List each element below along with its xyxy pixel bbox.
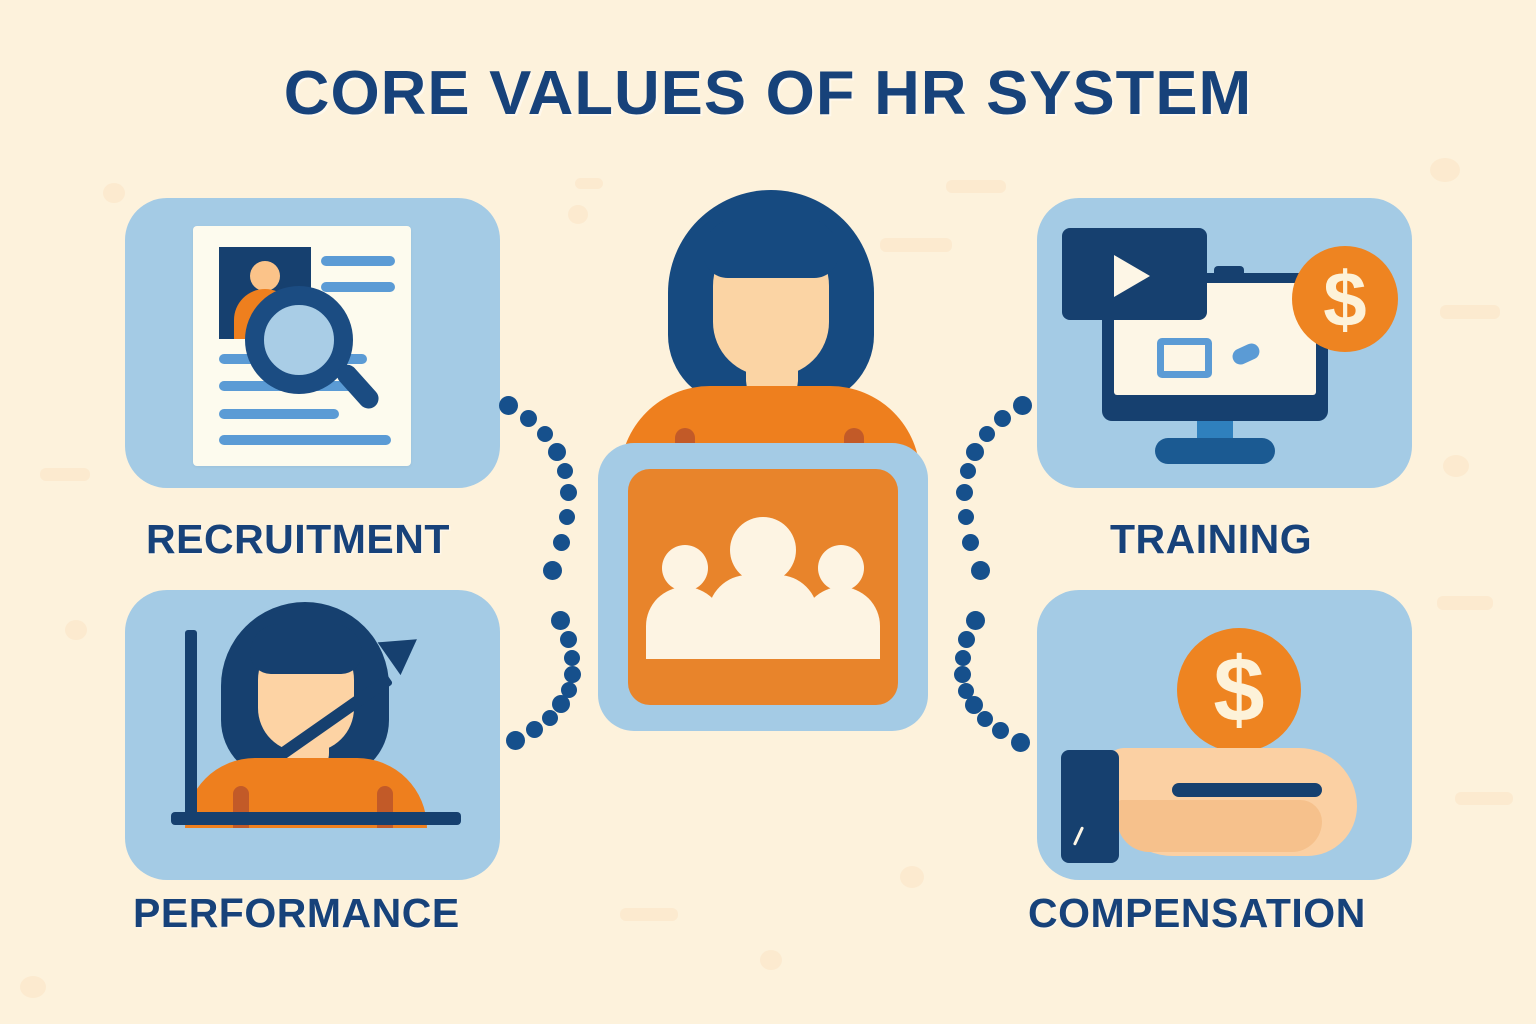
finger-crease bbox=[1172, 783, 1322, 797]
person-growth-chart-icon bbox=[125, 590, 500, 880]
connector-dot bbox=[966, 611, 985, 630]
deco-dash bbox=[1455, 792, 1513, 805]
connector-dot bbox=[552, 695, 570, 713]
group-figure-center-body bbox=[708, 575, 818, 659]
connector-dot bbox=[499, 396, 518, 415]
connector-dot bbox=[506, 731, 525, 750]
page-title: CORE VALUES OF HR SYSTEM bbox=[0, 58, 1536, 129]
connector-dot bbox=[977, 711, 993, 727]
deco-dot bbox=[20, 976, 46, 998]
monitor-video-coin-icon: $ bbox=[1037, 198, 1412, 488]
deco-dot bbox=[1443, 455, 1469, 477]
connector-dot bbox=[548, 443, 566, 461]
card-recruitment[interactable] bbox=[125, 198, 500, 488]
card-label-performance: PERFORMANCE bbox=[133, 890, 460, 937]
connector-dot bbox=[1013, 396, 1032, 415]
screen-ui-rectangle bbox=[1157, 338, 1212, 378]
connector-dot bbox=[955, 650, 971, 666]
hand-holding-coin-icon: $ bbox=[1037, 590, 1412, 880]
connector-dot bbox=[551, 611, 570, 630]
chart-axis-horizontal bbox=[171, 812, 461, 825]
deco-dot bbox=[900, 866, 924, 888]
connector-dot bbox=[979, 426, 995, 442]
deco-dot bbox=[568, 205, 588, 224]
deco-dash bbox=[1440, 305, 1500, 319]
card-label-training: TRAINING bbox=[1110, 516, 1312, 563]
connector-dot bbox=[561, 682, 577, 698]
dollar-coin-icon: $ bbox=[1292, 246, 1398, 352]
connector-dot bbox=[560, 484, 577, 501]
employee-fringe bbox=[250, 624, 362, 674]
deco-dash bbox=[946, 180, 1006, 193]
connector-dot bbox=[958, 631, 975, 648]
connector-dot bbox=[520, 410, 537, 427]
connector-dot bbox=[557, 463, 573, 479]
monitor-tab bbox=[1214, 266, 1244, 282]
monitor-base bbox=[1155, 438, 1275, 464]
deco-dash bbox=[575, 178, 603, 189]
resume-line bbox=[219, 435, 391, 445]
card-compensation[interactable]: $ bbox=[1037, 590, 1412, 880]
connector-dot bbox=[992, 722, 1009, 739]
play-icon bbox=[1114, 255, 1150, 297]
manager-fringe bbox=[703, 218, 839, 278]
deco-dot bbox=[1430, 158, 1460, 182]
connector-dot bbox=[960, 463, 976, 479]
connector-dot bbox=[526, 721, 543, 738]
card-performance[interactable] bbox=[125, 590, 500, 880]
deco-dot bbox=[65, 620, 87, 640]
connector-dot bbox=[542, 710, 558, 726]
video-play-panel bbox=[1062, 228, 1207, 320]
connector-dot bbox=[954, 666, 971, 683]
connector-dot bbox=[965, 696, 983, 714]
resume-with-magnifier-icon bbox=[125, 198, 500, 488]
deco-dash bbox=[40, 468, 90, 481]
connector-dot bbox=[560, 631, 577, 648]
connector-dot bbox=[1011, 733, 1030, 752]
connector-dot bbox=[966, 443, 984, 461]
chart-axis-vertical bbox=[185, 630, 197, 824]
connector-dot bbox=[543, 561, 562, 580]
connector-dot bbox=[564, 666, 581, 683]
connector-dot bbox=[958, 509, 974, 525]
group-figure-center-head bbox=[730, 517, 796, 583]
card-label-compensation: COMPENSATION bbox=[1028, 890, 1366, 937]
infographic-canvas: CORE VALUES OF HR SYSTEM RECRUITMENT bbox=[0, 0, 1536, 1024]
connector-dot bbox=[994, 410, 1011, 427]
resume-line bbox=[321, 256, 395, 266]
shirt-cuff bbox=[1061, 750, 1119, 863]
deco-dot bbox=[760, 950, 782, 970]
deco-dash bbox=[620, 908, 678, 921]
connector-dot bbox=[956, 484, 973, 501]
dollar-coin-icon: $ bbox=[1177, 628, 1301, 752]
team-board[interactable] bbox=[598, 443, 928, 731]
connector-dot bbox=[564, 650, 580, 666]
card-training[interactable]: $ bbox=[1037, 198, 1412, 488]
connector-dot bbox=[553, 534, 570, 551]
deco-dot bbox=[103, 183, 125, 203]
group-figure-left-head bbox=[662, 545, 708, 591]
connector-dot bbox=[559, 509, 575, 525]
group-figure-right-head bbox=[818, 545, 864, 591]
deco-dash bbox=[1437, 596, 1493, 610]
connector-dot bbox=[958, 683, 974, 699]
people-group-icon bbox=[628, 469, 898, 705]
palm-shadow bbox=[1117, 800, 1322, 852]
connector-dot bbox=[962, 534, 979, 551]
card-label-recruitment: RECRUITMENT bbox=[146, 516, 450, 563]
connector-dot bbox=[537, 426, 553, 442]
magnifying-glass-icon bbox=[245, 286, 373, 414]
connector-dot bbox=[971, 561, 990, 580]
